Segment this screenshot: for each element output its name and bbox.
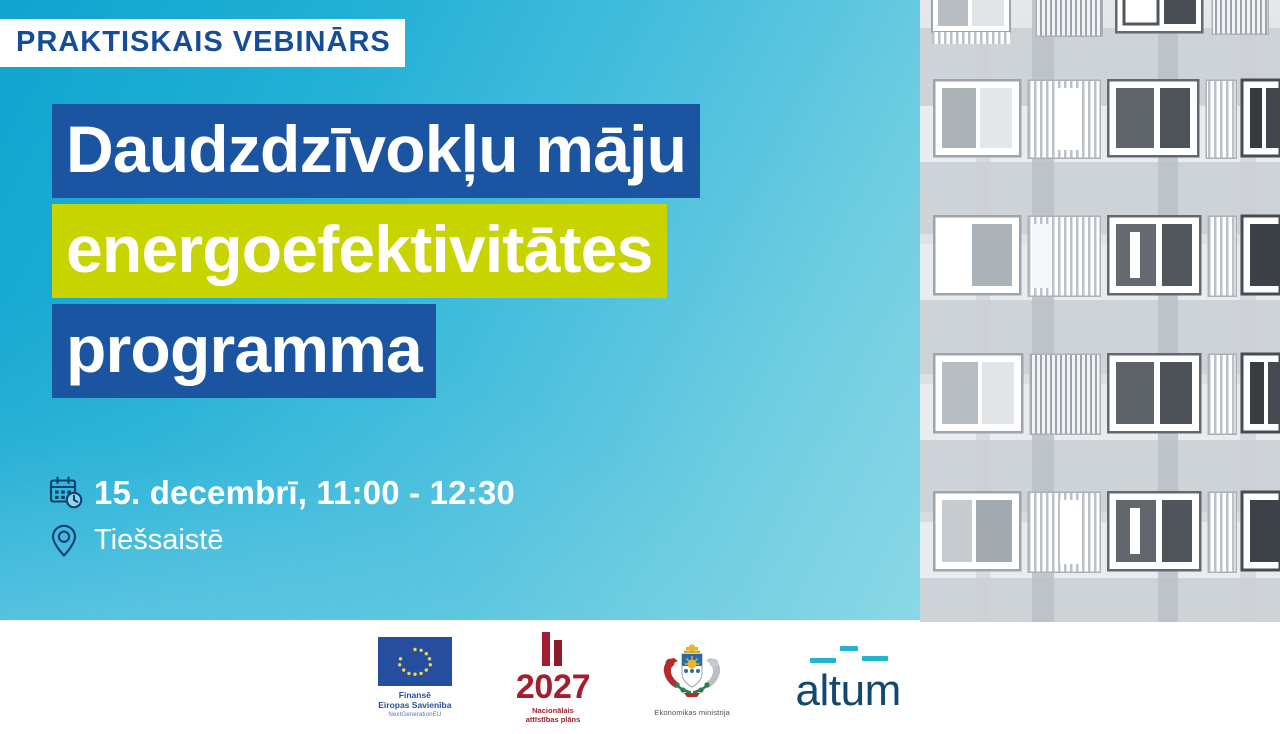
event-date-text: 15. decembrī, 11:00 - 12:30 — [94, 476, 515, 509]
location-pin-icon — [48, 522, 94, 558]
event-details: 15. decembrī, 11:00 - 12:30 Tiešsaistē — [48, 474, 515, 558]
title-line-3: programma — [52, 304, 436, 398]
webinar-promo-poster: PRAKTISKAIS VEBINĀRS Daudzdzīvokļu māju … — [0, 0, 1280, 734]
apartment-building-photo — [920, 0, 1280, 623]
eu-caption-sub: NextGenerationEU — [378, 711, 451, 718]
altum-wordmark: altum — [795, 669, 900, 713]
kicker-label: PRAKTISKAIS VEBINĀRS — [0, 19, 405, 67]
footer-logo-bar: Finansē Eiropas Savienība NextGeneration… — [0, 622, 1280, 734]
calendar-clock-icon — [48, 474, 94, 510]
nap-2027-logo: 2027 Nacionālais attīstības plāns — [516, 632, 590, 724]
nap-bars-icon — [535, 632, 571, 671]
eu-funding-logo: Finansē Eiropas Savienība NextGeneration… — [378, 637, 452, 718]
eu-flag-icon — [378, 637, 452, 686]
nap-caption-line1: Nacionālais — [532, 706, 574, 715]
ministry-logo-caption: Ekonomikas ministrija — [654, 708, 730, 717]
title-line-2: energoefektivitātes — [52, 204, 667, 298]
event-location-row: Tiešsaistē — [48, 522, 515, 558]
event-date-row: 15. decembrī, 11:00 - 12:30 — [48, 474, 515, 510]
eu-caption-line2: Eiropas Savienība — [378, 700, 451, 710]
latvia-coat-of-arms-logo: Ekonomikas ministrija — [654, 640, 730, 717]
title-line-1: Daudzdzīvokļu māju — [52, 104, 700, 198]
eu-logo-caption: Finansē Eiropas Savienība NextGeneration… — [378, 690, 451, 718]
nap-logo-caption: Nacionālais attīstības plāns — [526, 706, 581, 724]
event-location-text: Tiešsaistē — [94, 526, 223, 555]
nap-caption-line2: attīstības plāns — [526, 715, 581, 724]
altum-logo: altum — [794, 643, 902, 713]
coat-of-arms-icon — [654, 640, 730, 705]
page-title: Daudzdzīvokļu māju energoefektivitātes p… — [52, 104, 700, 398]
eu-caption-line1: Finansē — [399, 690, 431, 700]
nap-year-text: 2027 — [516, 672, 590, 703]
